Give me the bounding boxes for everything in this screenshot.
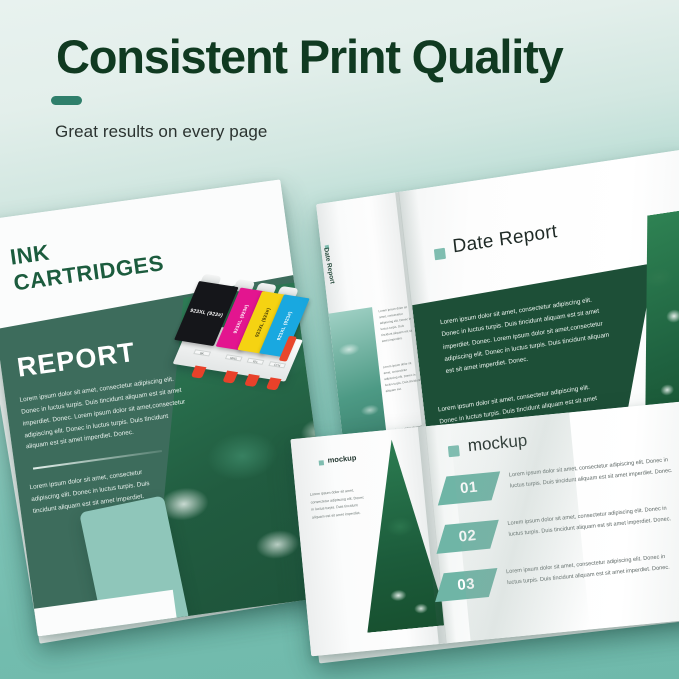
cartridge-foot-black [191,365,207,378]
left-page-text: Lorem ipsum dolor sit amet, consectetur … [310,487,367,522]
left-page-marker-icon [319,460,324,465]
header-block: Consistent Print Quality Great results o… [0,0,679,170]
product-lifestyle-image: Consistent Print Quality Great results o… [0,0,679,679]
mockup-badge-02-number: 02 [439,520,495,553]
cartridge-foot-cyan [266,377,282,390]
left-page-mockup-heading: mockup [327,453,356,465]
mockup-badge-01-number: 01 [441,472,497,505]
title-underline-rule [51,96,82,105]
mockup-badge-03-number: 03 [438,569,494,602]
mini-page-text-1: Lorem ipsum dolor sit amet, consectetur … [378,303,416,344]
ink-cartridge-group: 923XL (923#) 923XL (923#) 923XL (923#) 9… [172,279,306,408]
date-report-panel-text: Lorem ipsum dolor sit amet, consectetur … [440,292,615,378]
page-title: Consistent Print Quality [56,29,563,84]
page-subtitle: Great results on every page [55,122,267,142]
mockup-badge-03: 03 [435,568,497,602]
mockup-badge-01: 01 [438,471,500,505]
cartridge-foot-magenta [222,370,238,383]
mockup-marker-icon [448,445,460,457]
date-report-marker-icon [434,248,446,261]
mini-page-text-2: Lorem ipsum dolor sit amet, consectetur … [383,359,422,394]
mockup-badge-02: 02 [436,520,498,554]
cartridge-foot-yellow [244,374,260,387]
black-cartridge-label: 923XL (923#) [189,308,224,319]
open-brochure-bottom-spread: mockup Lorem ipsum dolor sit amet, conse… [290,402,679,657]
